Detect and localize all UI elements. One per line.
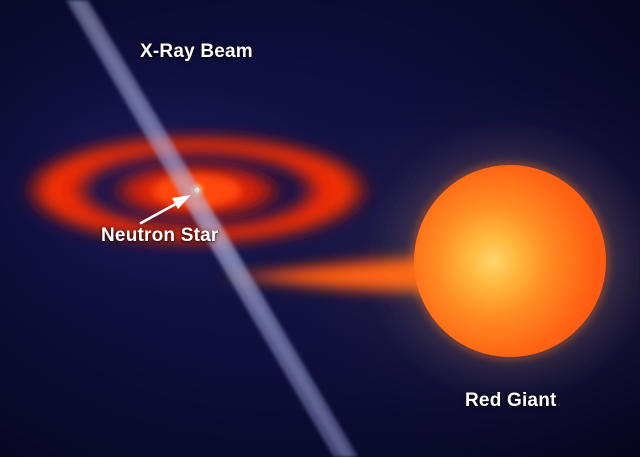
illustration-canvas: X-Ray Beam Neutron Star Red Giant	[0, 0, 640, 457]
neutron-star-pointer-arrow	[141, 195, 191, 223]
annotation-layer	[0, 0, 640, 457]
label-neutron-star: Neutron Star	[101, 225, 218, 247]
label-red-giant: Red Giant	[465, 390, 557, 412]
label-xray-beam: X-Ray Beam	[140, 41, 253, 63]
